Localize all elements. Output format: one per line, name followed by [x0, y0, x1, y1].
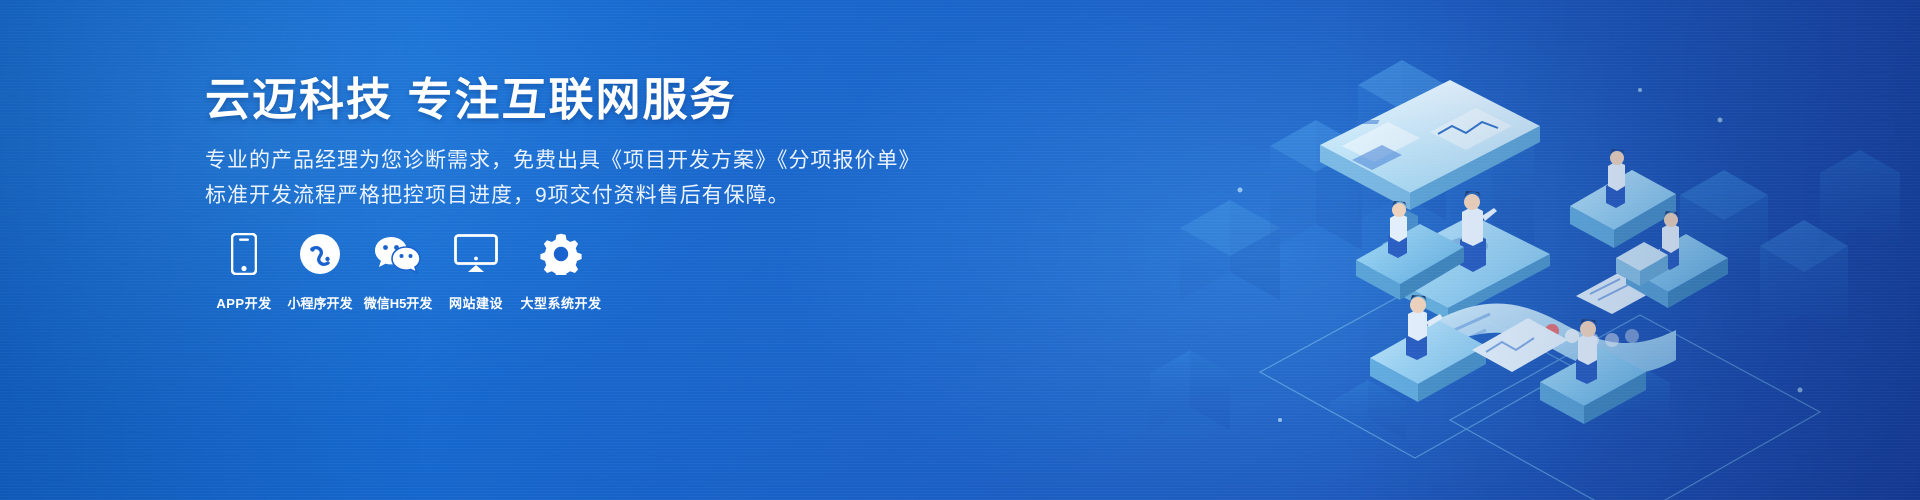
service-item-app[interactable]: APP开发: [205, 232, 283, 312]
subtitle-line-2: 标准开发流程严格把控项目进度，9项交付资料售后有保障。: [205, 181, 790, 211]
service-item-website[interactable]: 网站建设: [437, 232, 515, 312]
mobile-phone-icon: [231, 232, 257, 276]
service-label: APP开发: [216, 293, 271, 312]
wechat-icon: [374, 232, 422, 276]
gear-icon: [540, 232, 582, 276]
service-item-miniprogram[interactable]: 小程序开发: [281, 232, 359, 312]
hero-content: 云迈科技 专注互联网服务 专业的产品经理为您诊断需求，免费出具《项目开发方案》《…: [205, 0, 965, 500]
service-label: 大型系统开发: [520, 293, 601, 312]
service-item-wechat[interactable]: 微信H5开发: [359, 232, 437, 312]
page-title: 云迈科技 专注互联网服务: [205, 70, 737, 130]
service-list: APP开发 小程序开发: [205, 232, 607, 312]
monitor-icon: [454, 232, 498, 276]
isometric-illustration: [1120, 0, 1920, 500]
hero-banner: 云迈科技 专注互联网服务 专业的产品经理为您诊断需求，免费出具《项目开发方案》《…: [0, 0, 1920, 500]
service-label: 小程序开发: [287, 293, 352, 312]
service-label: 微信H5开发: [364, 293, 433, 312]
mini-program-icon: [299, 232, 341, 276]
service-label: 网站建设: [449, 293, 503, 312]
service-item-enterprise-system[interactable]: 大型系统开发: [515, 232, 607, 312]
subtitle-line-1: 专业的产品经理为您诊断需求，免费出具《项目开发方案》《分项报价单》: [205, 146, 921, 176]
